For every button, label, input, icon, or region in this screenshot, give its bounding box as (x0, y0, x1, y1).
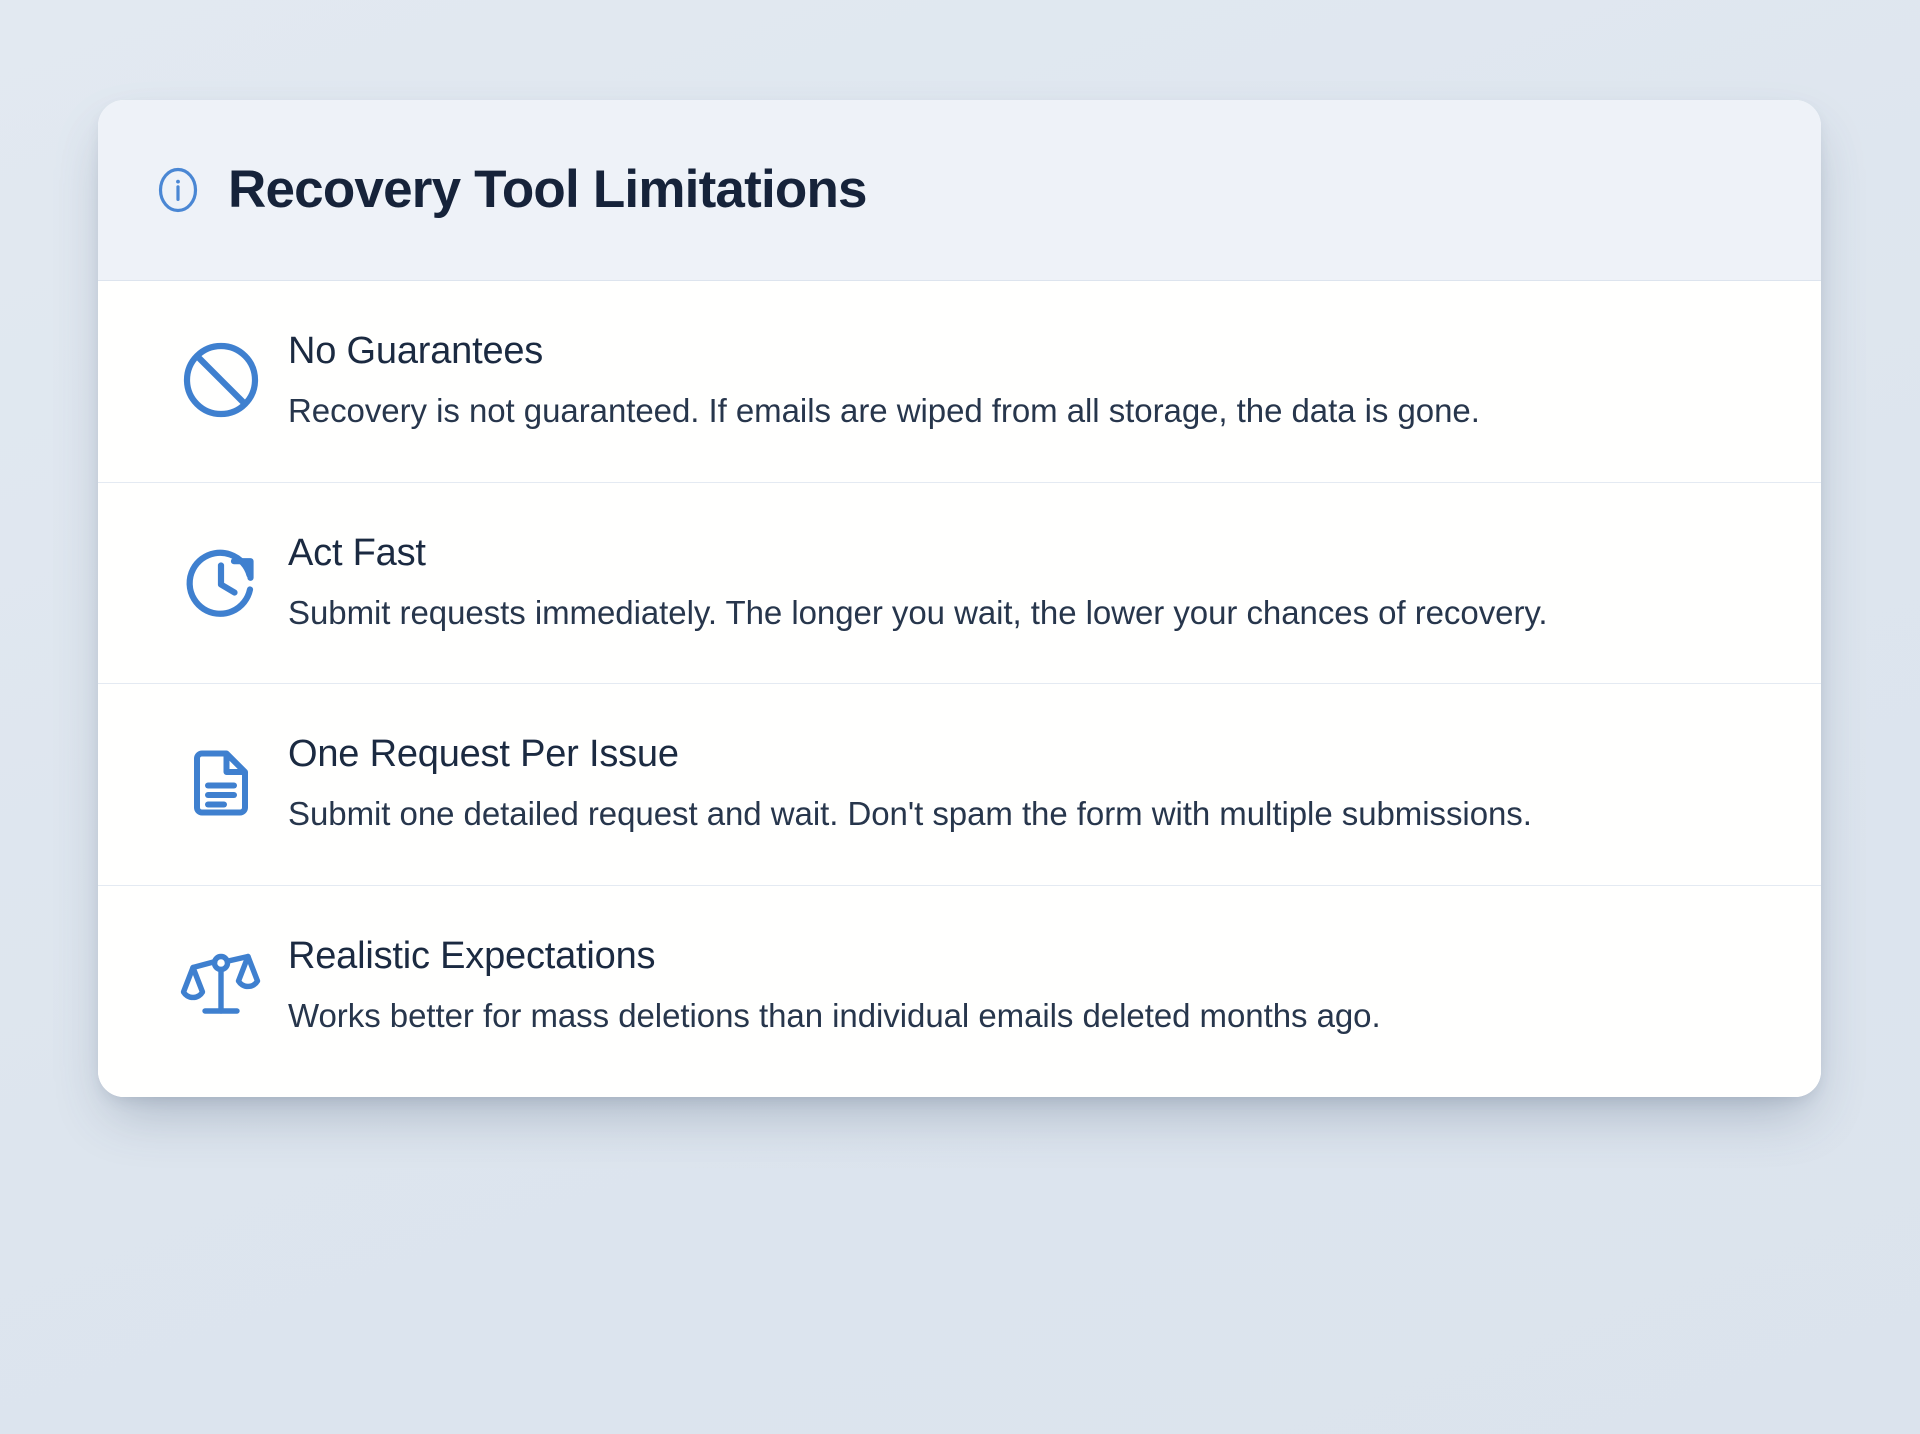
row-text: Realistic Expectations Works better for … (288, 933, 1761, 1040)
recovery-tool-limitations-card: Recovery Tool Limitations No Guarantees … (98, 100, 1821, 1097)
row-text: No Guarantees Recovery is not guaranteed… (288, 328, 1761, 435)
clock-rotate-icon (179, 540, 263, 624)
limitation-row: Act Fast Submit requests immediately. Th… (98, 483, 1821, 685)
info-circle-icon (154, 166, 202, 214)
limitation-heading: Realistic Expectations (288, 933, 1711, 979)
row-icon-wrap (154, 328, 288, 422)
limitation-description: Works better for mass deletions than ind… (288, 993, 1658, 1039)
limitation-row: Realistic Expectations Works better for … (98, 886, 1821, 1098)
row-text: One Request Per Issue Submit one detaile… (288, 731, 1761, 838)
document-lines-icon (179, 741, 263, 825)
limitation-description: Submit requests immediately. The longer … (288, 590, 1658, 636)
row-icon-wrap (154, 731, 288, 825)
page-canvas: Recovery Tool Limitations No Guarantees … (0, 0, 1920, 1434)
limitation-heading: One Request Per Issue (288, 731, 1711, 777)
limitations-list: No Guarantees Recovery is not guaranteed… (98, 281, 1821, 1097)
balance-scale-icon (179, 943, 263, 1027)
limitation-row: No Guarantees Recovery is not guaranteed… (98, 281, 1821, 483)
limitation-heading: Act Fast (288, 530, 1711, 576)
row-icon-wrap (154, 933, 288, 1027)
row-icon-wrap (154, 530, 288, 624)
limitation-description: Recovery is not guaranteed. If emails ar… (288, 388, 1658, 434)
row-text: Act Fast Submit requests immediately. Th… (288, 530, 1761, 637)
limitation-description: Submit one detailed request and wait. Do… (288, 791, 1658, 837)
limitation-heading: No Guarantees (288, 328, 1711, 374)
limitation-row: One Request Per Issue Submit one detaile… (98, 684, 1821, 886)
page-title: Recovery Tool Limitations (228, 161, 867, 219)
card-header: Recovery Tool Limitations (98, 100, 1821, 281)
ban-icon (179, 338, 263, 422)
